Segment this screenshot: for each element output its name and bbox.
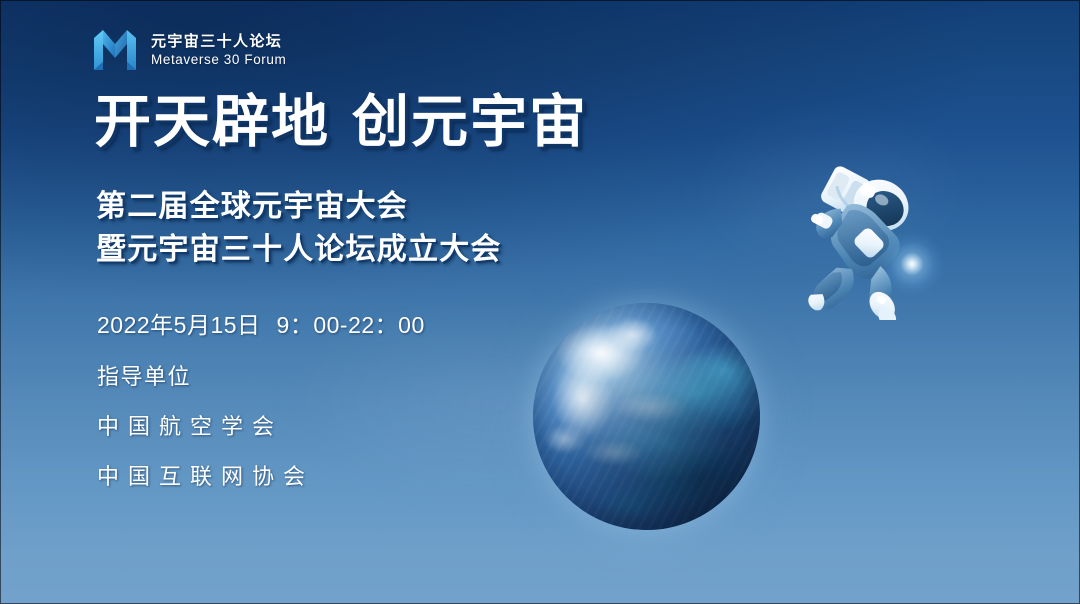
forum-name-en: Metaverse 30 Forum [151,53,286,67]
subtitle-line-1: 第二届全球元宇宙大会 [96,186,502,229]
metaverse-m-logo-icon [92,28,138,72]
subtitle-line-2: 暨元宇宙三十人论坛成立大会 [96,229,502,272]
forum-logo[interactable]: 元宇宙三十人论坛 Metaverse 30 Forum [92,28,286,72]
earth-globe [533,303,760,530]
forum-name-cn: 元宇宙三十人论坛 [151,34,286,49]
event-time: 9：00-22：00 [277,312,425,338]
forum-logo-text: 元宇宙三十人论坛 Metaverse 30 Forum [151,34,286,67]
headline-part-a: 开天辟地 [94,90,330,154]
poster-subtitle: 第二届全球元宇宙大会 暨元宇宙三十人论坛成立大会 [96,186,502,271]
poster-headline: 开天辟地创元宇宙 [94,93,588,153]
guidance-org-2: 中国互联网协会 [97,459,425,491]
guidance-org-1: 中国航空学会 [97,409,425,441]
event-details: 2022年5月15日9：00-22：00 指导单位 中国航空学会 中国互联网协会 [97,306,425,509]
earth-shading-layer [533,303,760,530]
astronaut-figure [772,152,944,320]
event-poster: 元宇宙三十人论坛 Metaverse 30 Forum 开天辟地创元宇宙 第二届… [0,0,1080,604]
event-datetime: 2022年5月15日9：00-22：00 [97,306,425,340]
headline-part-b: 创元宇宙 [352,90,588,154]
event-date: 2022年5月15日 [97,312,261,338]
guidance-label: 指导单位 [97,359,425,391]
